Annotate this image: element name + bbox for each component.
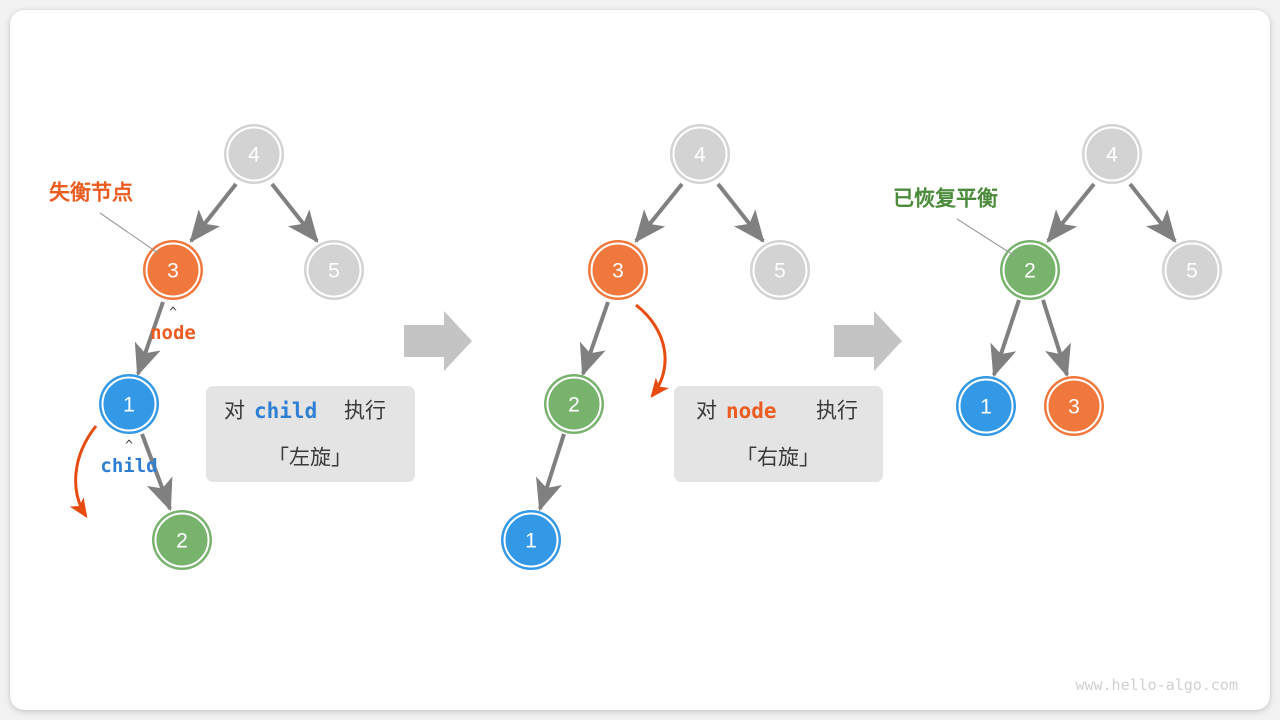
- node-p2-4[interactable]: 4: [670, 124, 730, 184]
- node-label: 4: [694, 144, 706, 167]
- edge-4-3: [191, 184, 236, 241]
- node-label: 2: [568, 394, 580, 417]
- node-label: 1: [123, 394, 135, 417]
- annotation-leader-line: [957, 219, 1015, 256]
- node-p2-5[interactable]: 5: [750, 240, 810, 300]
- edge-2-3: [1043, 300, 1067, 375]
- pointer-child: ^ child: [100, 439, 157, 478]
- node-label: 3: [612, 260, 624, 283]
- node-label: 5: [1186, 260, 1198, 283]
- label-suffix: 执行: [816, 400, 858, 423]
- label-suffix: 执行: [344, 400, 386, 423]
- node-label: 2: [1024, 260, 1036, 283]
- node-label: 1: [980, 396, 992, 419]
- node-label: 2: [176, 530, 188, 553]
- annotation-unbalanced-node: 失衡节点: [49, 181, 133, 205]
- diagram-stage: 4 5 3 1 2 失衡节点: [0, 0, 1280, 720]
- node-p2-2[interactable]: 2: [544, 374, 604, 434]
- node-p3-1[interactable]: 1: [956, 376, 1016, 436]
- rotation-arrow-right: [636, 305, 665, 396]
- label-code-node: node: [726, 399, 777, 423]
- node-p3-5[interactable]: 5: [1162, 240, 1222, 300]
- panel-after-left-rotation: 4 5 3 2 1: [501, 124, 810, 570]
- node-p2-1[interactable]: 1: [501, 510, 561, 570]
- node-label: 4: [1106, 144, 1118, 167]
- label-box-right-rotation: 对 node 执行 「右旋」: [674, 386, 883, 482]
- edge-4-3: [636, 184, 682, 241]
- panel-balanced-result: 4 5 2 1 3 已恢复平衡: [893, 124, 1222, 436]
- rotation-arrow-left: [76, 426, 96, 516]
- node-p1-2[interactable]: 2: [152, 510, 212, 570]
- label-code-child: child: [254, 399, 317, 423]
- caret-icon: ^: [169, 306, 177, 321]
- step-arrow-2: [834, 311, 902, 371]
- panel-before-rotation: 4 5 3 1 2 失衡节点: [49, 124, 364, 570]
- annotation-balanced: 已恢复平衡: [893, 187, 998, 211]
- node-label: 4: [248, 144, 260, 167]
- label-prefix: 对: [696, 400, 717, 423]
- edge-2-1: [994, 300, 1019, 375]
- label-prefix: 对: [224, 400, 245, 423]
- node-p2-3[interactable]: 3: [588, 240, 648, 300]
- node-p3-2[interactable]: 2: [1000, 240, 1060, 300]
- node-label: 3: [1068, 396, 1080, 419]
- node-label: 5: [328, 260, 340, 283]
- node-p1-1[interactable]: 1: [99, 374, 159, 434]
- node-p3-3[interactable]: 3: [1044, 376, 1104, 436]
- node-label: 1: [525, 530, 537, 553]
- edge-4-5: [1130, 184, 1175, 241]
- edge-4-5: [272, 184, 317, 241]
- node-p1-4[interactable]: 4: [224, 124, 284, 184]
- label-box-left-rotation: 对 child 执行 「左旋」: [206, 386, 415, 482]
- node-p3-4[interactable]: 4: [1082, 124, 1142, 184]
- label-line2: 「右旋」: [736, 447, 820, 470]
- label-line2: 「左旋」: [268, 447, 352, 470]
- edge-3-2: [583, 302, 608, 374]
- avl-rotation-diagram: 4 5 3 1 2 失衡节点: [0, 0, 1280, 720]
- node-p1-5[interactable]: 5: [304, 240, 364, 300]
- edge-2-1: [540, 434, 564, 509]
- step-arrow-1: [404, 311, 472, 371]
- edge-4-5: [718, 184, 763, 241]
- annotation-leader-line: [100, 213, 158, 253]
- edge-4-2: [1048, 184, 1094, 241]
- pointer-label: child: [100, 455, 157, 477]
- node-label: 5: [774, 260, 786, 283]
- pointer-label: node: [150, 322, 196, 344]
- node-label: 3: [167, 260, 179, 283]
- watermark: www.hello-algo.com: [1075, 676, 1238, 694]
- caret-icon: ^: [125, 439, 133, 454]
- pointer-node: ^ node: [150, 306, 196, 345]
